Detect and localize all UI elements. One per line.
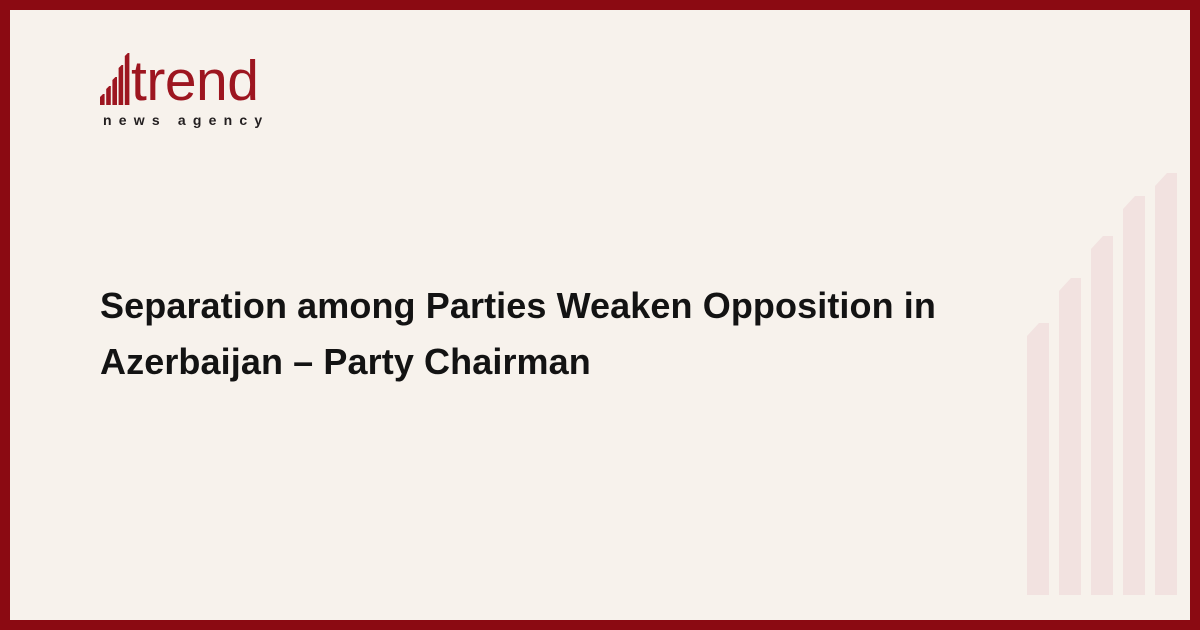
- page-title: Separation among Parties Weaken Oppositi…: [100, 278, 1000, 390]
- logo-wordmark: trend: [131, 55, 258, 107]
- share-card: trend news agency Separation among Parti…: [0, 0, 1200, 630]
- ascending-bars-icon: [100, 53, 130, 105]
- logo-tagline: news agency: [103, 112, 330, 128]
- brand-logo[interactable]: trend news agency: [100, 45, 330, 140]
- logo-row: trend: [100, 45, 330, 107]
- ascending-bars-decoration-icon: [1027, 173, 1190, 595]
- card-canvas: trend news agency Separation among Parti…: [10, 10, 1190, 620]
